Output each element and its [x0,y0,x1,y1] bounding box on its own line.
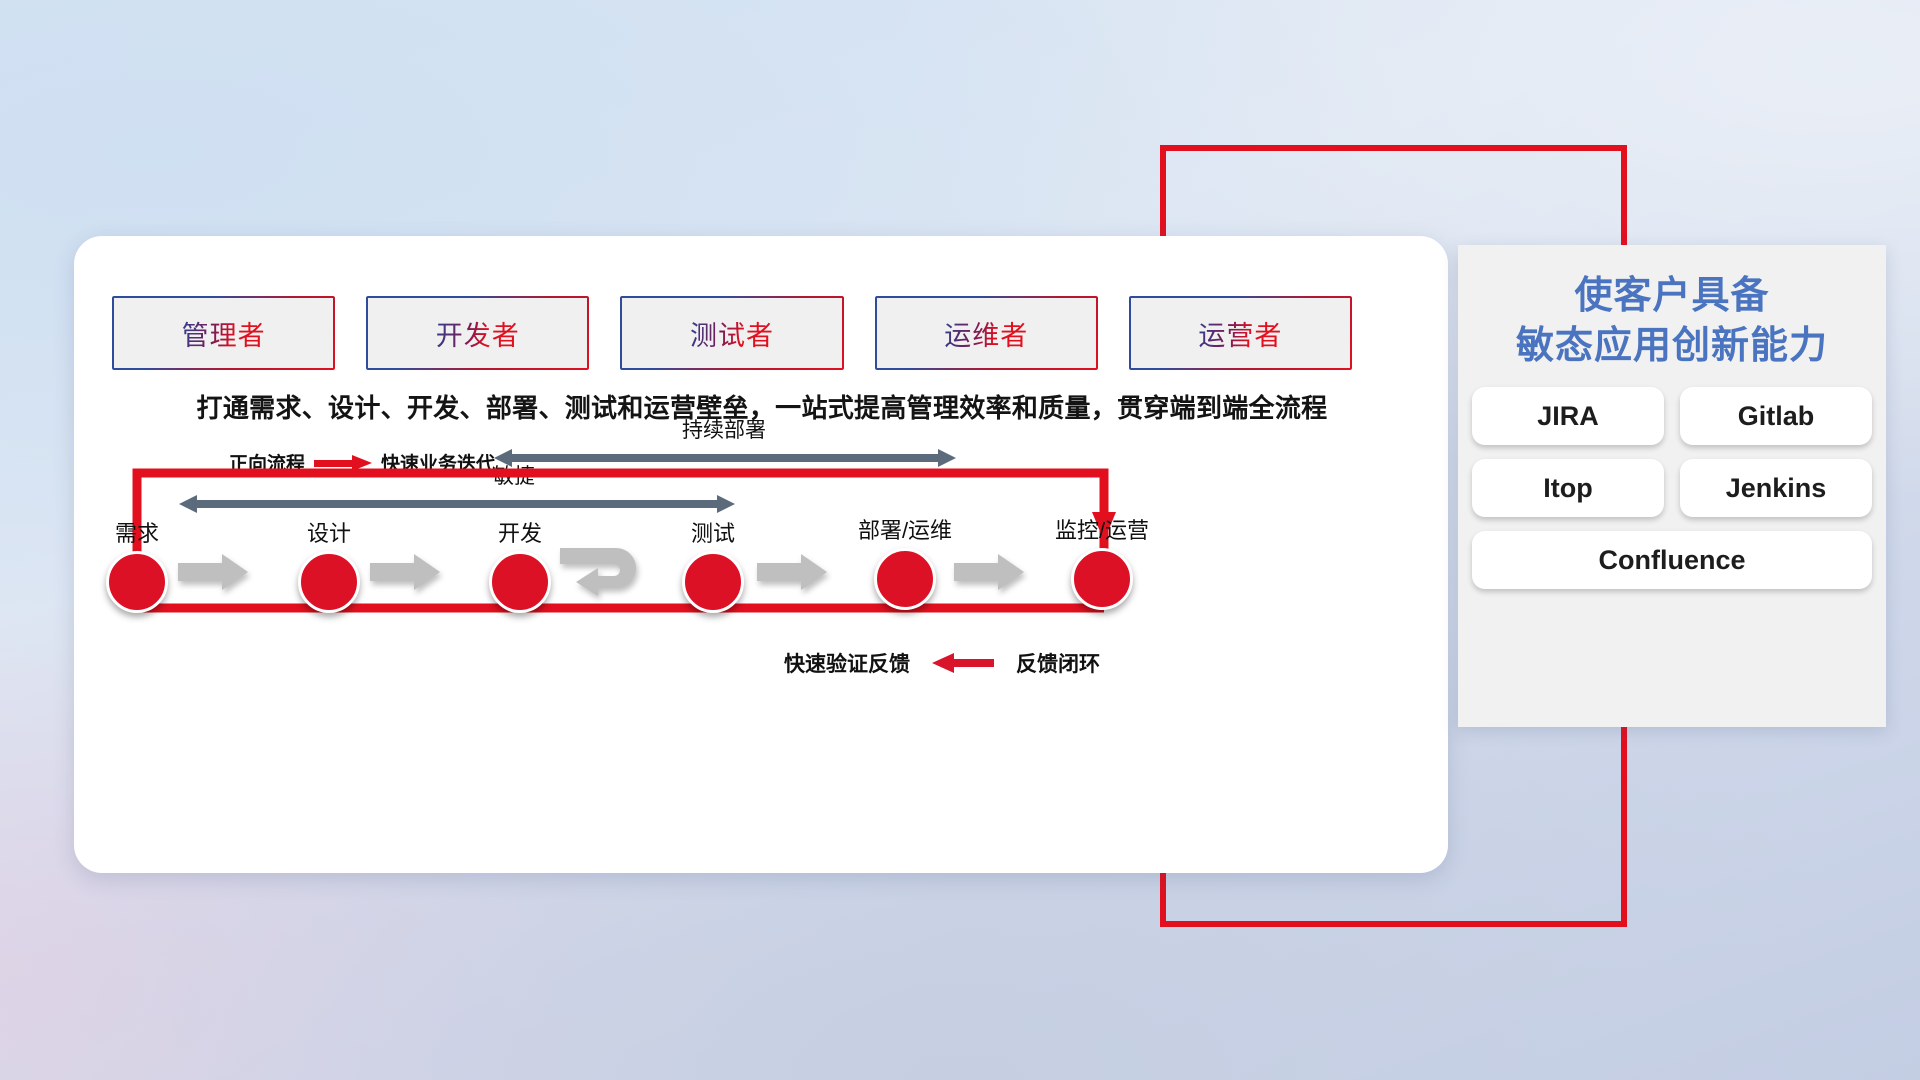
span-label-continuous-deployment: 持续部署 [564,414,884,444]
tool-chip-jira[interactable]: JIRA [1472,387,1664,445]
connector-arrow-right-gray-icon [178,552,250,592]
tool-chip-itop[interactable]: Itop [1472,459,1664,517]
legend-forward-left-label: 正向流程 [229,449,305,476]
stage-label: 需求 [72,516,202,548]
stage-deploy-ops[interactable]: 部署/运维 [840,513,970,610]
connector-u-turn-loop-gray-icon [558,542,654,604]
stage-dot [489,551,551,613]
role-label: 运营者 [1198,314,1282,353]
role-badge-developer[interactable]: 开发者 [366,296,589,370]
role-label: 管理者 [182,314,266,353]
double-arrow-agile [179,495,735,513]
stage-label: 测试 [648,516,778,548]
stage-dot [682,551,744,613]
panel-heading: 使客户具备 敏态应用创新能力 [1458,245,1886,371]
panel-heading-line2: 敏态应用创新能力 [1516,325,1828,367]
value-proposition-panel: 使客户具备 敏态应用创新能力 JIRA Gitlab Itop Jenkins … [1458,245,1886,727]
stage-dot [106,551,168,613]
stage-label: 设计 [264,516,394,548]
connector-arrow-right-gray-icon [757,552,829,592]
tool-chip-list: JIRA Gitlab Itop Jenkins Confluence [1458,371,1886,589]
legend-feedback-loop: 快速验证反馈 反馈闭环 [784,648,1100,678]
slide-canvas: 管理者 开发者 测试者 运维者 运营者 打通需求、设计、开发、部署、测试和运营壁… [0,0,1920,1080]
stage-dot [1071,548,1133,610]
span-label-agile: 敏捷 [354,460,674,490]
legend-feedback-right-label: 反馈闭环 [1016,648,1100,678]
tool-chip-confluence[interactable]: Confluence [1472,531,1872,589]
legend-feedback-left-label: 快速验证反馈 [784,648,910,678]
stage-label: 监控/运营 [1037,513,1167,545]
connector-arrow-right-gray-icon [954,552,1026,592]
stage-dot [298,551,360,613]
role-badge-row: 管理者 开发者 测试者 运维者 运营者 [112,296,1352,370]
stage-monitor-operation[interactable]: 监控/运营 [1037,513,1167,610]
stage-label: 部署/运维 [840,513,970,545]
role-label: 运维者 [944,314,1028,353]
main-content-card: 管理者 开发者 测试者 运维者 运营者 打通需求、设计、开发、部署、测试和运营壁… [74,236,1448,873]
tool-chip-jenkins[interactable]: Jenkins [1680,459,1872,517]
role-label: 测试者 [690,314,774,353]
arrow-left-red-icon [932,656,994,670]
panel-heading-line1: 使客户具备 [1574,275,1769,317]
connector-arrow-right-gray-icon [370,552,442,592]
tool-chip-gitlab[interactable]: Gitlab [1680,387,1872,445]
stage-dot [874,548,936,610]
role-badge-tester[interactable]: 测试者 [620,296,843,370]
role-badge-operator[interactable]: 运营者 [1129,296,1352,370]
role-label: 开发者 [436,314,520,353]
role-badge-ops[interactable]: 运维者 [875,296,1098,370]
role-badge-manager[interactable]: 管理者 [112,296,335,370]
